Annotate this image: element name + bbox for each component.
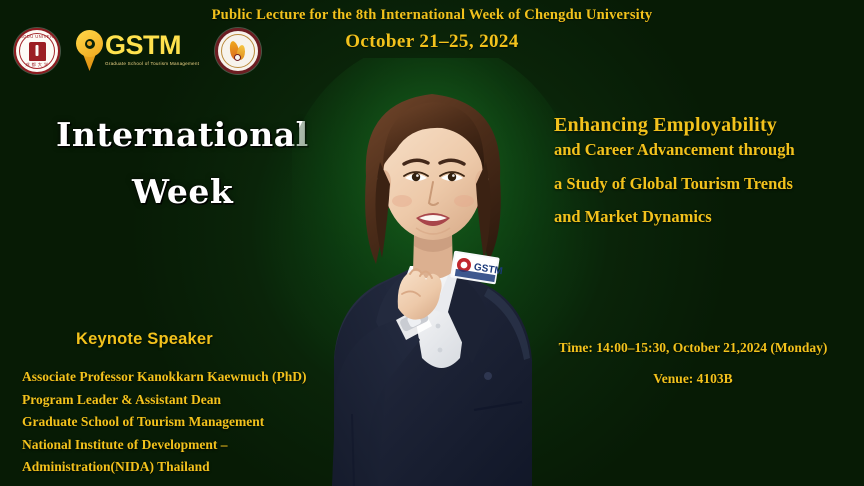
speaker-name: Associate Professor Kanokkarn Kaewnuch (… (22, 366, 362, 389)
lecture-title-line1: Enhancing Employability (554, 114, 854, 137)
nida-flame-icon (218, 31, 258, 71)
speaker-school: Graduate School of Tourism Management (22, 411, 362, 434)
map-pin-icon (76, 30, 103, 72)
svg-text:GSTM: GSTM (473, 262, 503, 277)
speaker-institute-2: Administration(NIDA) Thailand (22, 456, 362, 479)
speaker-institute-1: National Institute of Development – (22, 434, 362, 457)
event-name-block: International Week (56, 118, 356, 209)
gstm-logo: GSTM Graduate School of Tourism Manageme… (76, 30, 199, 72)
lecture-title-line2: and Career Advancement through (554, 140, 854, 161)
chengdu-emblem-icon (16, 30, 58, 72)
logo-row: CHENGDU UNIVERSITY 成 都 大 学 GSTM Graduate… (14, 28, 261, 74)
event-time: Time: 14:00–15:30, October 21,2024 (Mond… (528, 332, 858, 363)
event-name-line2: Week (132, 175, 356, 210)
lecture-title-block: Enhancing Employability and Career Advan… (554, 114, 854, 228)
header-lecture-line: Public Lecture for the 8th International… (0, 7, 864, 24)
gstm-subtitle: Graduate School of Tourism Management (105, 61, 199, 66)
event-name-line1: International (56, 118, 356, 153)
keynote-speaker-heading: Keynote Speaker (76, 330, 213, 349)
poster-canvas: Public Lecture for the 8th International… (0, 0, 864, 486)
speaker-info-block: Associate Professor Kanokkarn Kaewnuch (… (22, 366, 362, 479)
lecture-title-line4: and Market Dynamics (554, 207, 854, 228)
event-details-block: Time: 14:00–15:30, October 21,2024 (Mond… (528, 332, 858, 394)
speaker-role: Program Leader & Assistant Dean (22, 389, 362, 412)
chengdu-university-logo: CHENGDU UNIVERSITY 成 都 大 学 (14, 28, 60, 74)
nida-logo (215, 28, 261, 74)
gstm-wordmark: GSTM (105, 32, 199, 59)
event-venue: Venue: 4103B (528, 363, 858, 394)
gstm-badge-icon: GSTM (450, 251, 503, 285)
lecture-title-line3: a Study of Global Tourism Trends (554, 174, 854, 195)
